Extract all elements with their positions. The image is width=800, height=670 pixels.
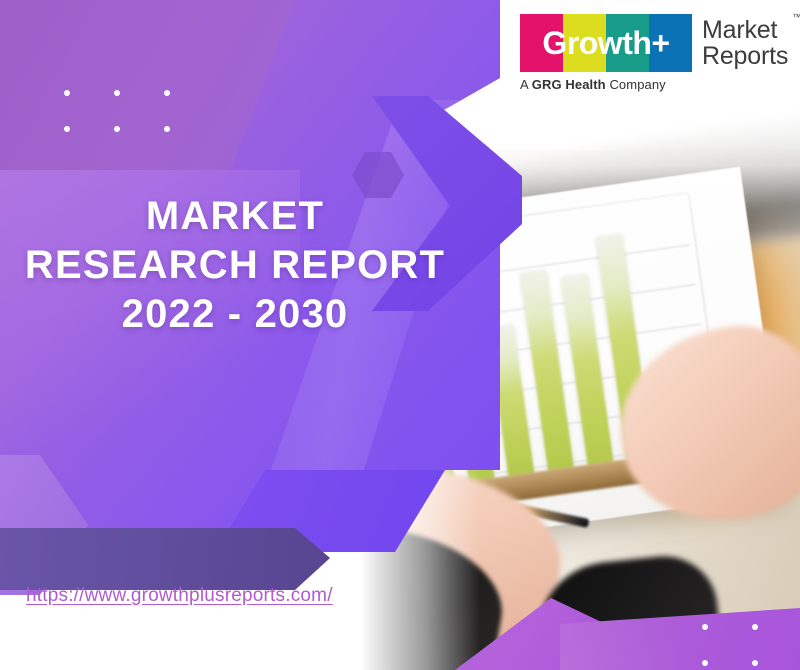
dot-grid-top-left: [64, 90, 170, 132]
dot: [702, 660, 708, 666]
company-logo: Growth+ Market™ Reports A GRG Health Com…: [520, 14, 790, 92]
dot: [64, 90, 70, 96]
dot: [702, 624, 708, 630]
trademark-icon: ™: [792, 13, 800, 22]
dot: [164, 126, 170, 132]
title-line-3: 2022 - 2030: [0, 290, 470, 339]
dot: [114, 90, 120, 96]
tagline-bold: GRG Health: [532, 77, 606, 92]
logo-wordmark: Growth+: [520, 14, 692, 72]
bg-shape-dark-band: [0, 528, 330, 590]
cover-title: MARKET RESEARCH REPORT 2022 - 2030: [0, 192, 470, 338]
title-line-1: MARKET: [0, 192, 470, 241]
dot: [64, 126, 70, 132]
dot: [114, 126, 120, 132]
dot: [752, 660, 758, 666]
report-cover: MARKET RESEARCH REPORT 2022 - 2030 https…: [0, 0, 800, 670]
logo-tagline: A GRG Health Company: [520, 77, 790, 92]
dot: [752, 624, 758, 630]
tagline-prefix: A: [520, 77, 532, 92]
title-line-2: RESEARCH REPORT: [0, 241, 470, 290]
logo-name-line-2: Reports: [702, 43, 788, 69]
dot-grid-bottom-right: [702, 624, 800, 666]
logo-name-line-1: Market™: [702, 17, 788, 43]
website-url-link[interactable]: https://www.growthplusreports.com/: [26, 585, 333, 607]
logo-name-block: Market™ Reports: [692, 14, 788, 72]
logo-colorblock-mark: Growth+: [520, 14, 692, 72]
tagline-suffix: Company: [606, 77, 666, 92]
dot: [164, 90, 170, 96]
